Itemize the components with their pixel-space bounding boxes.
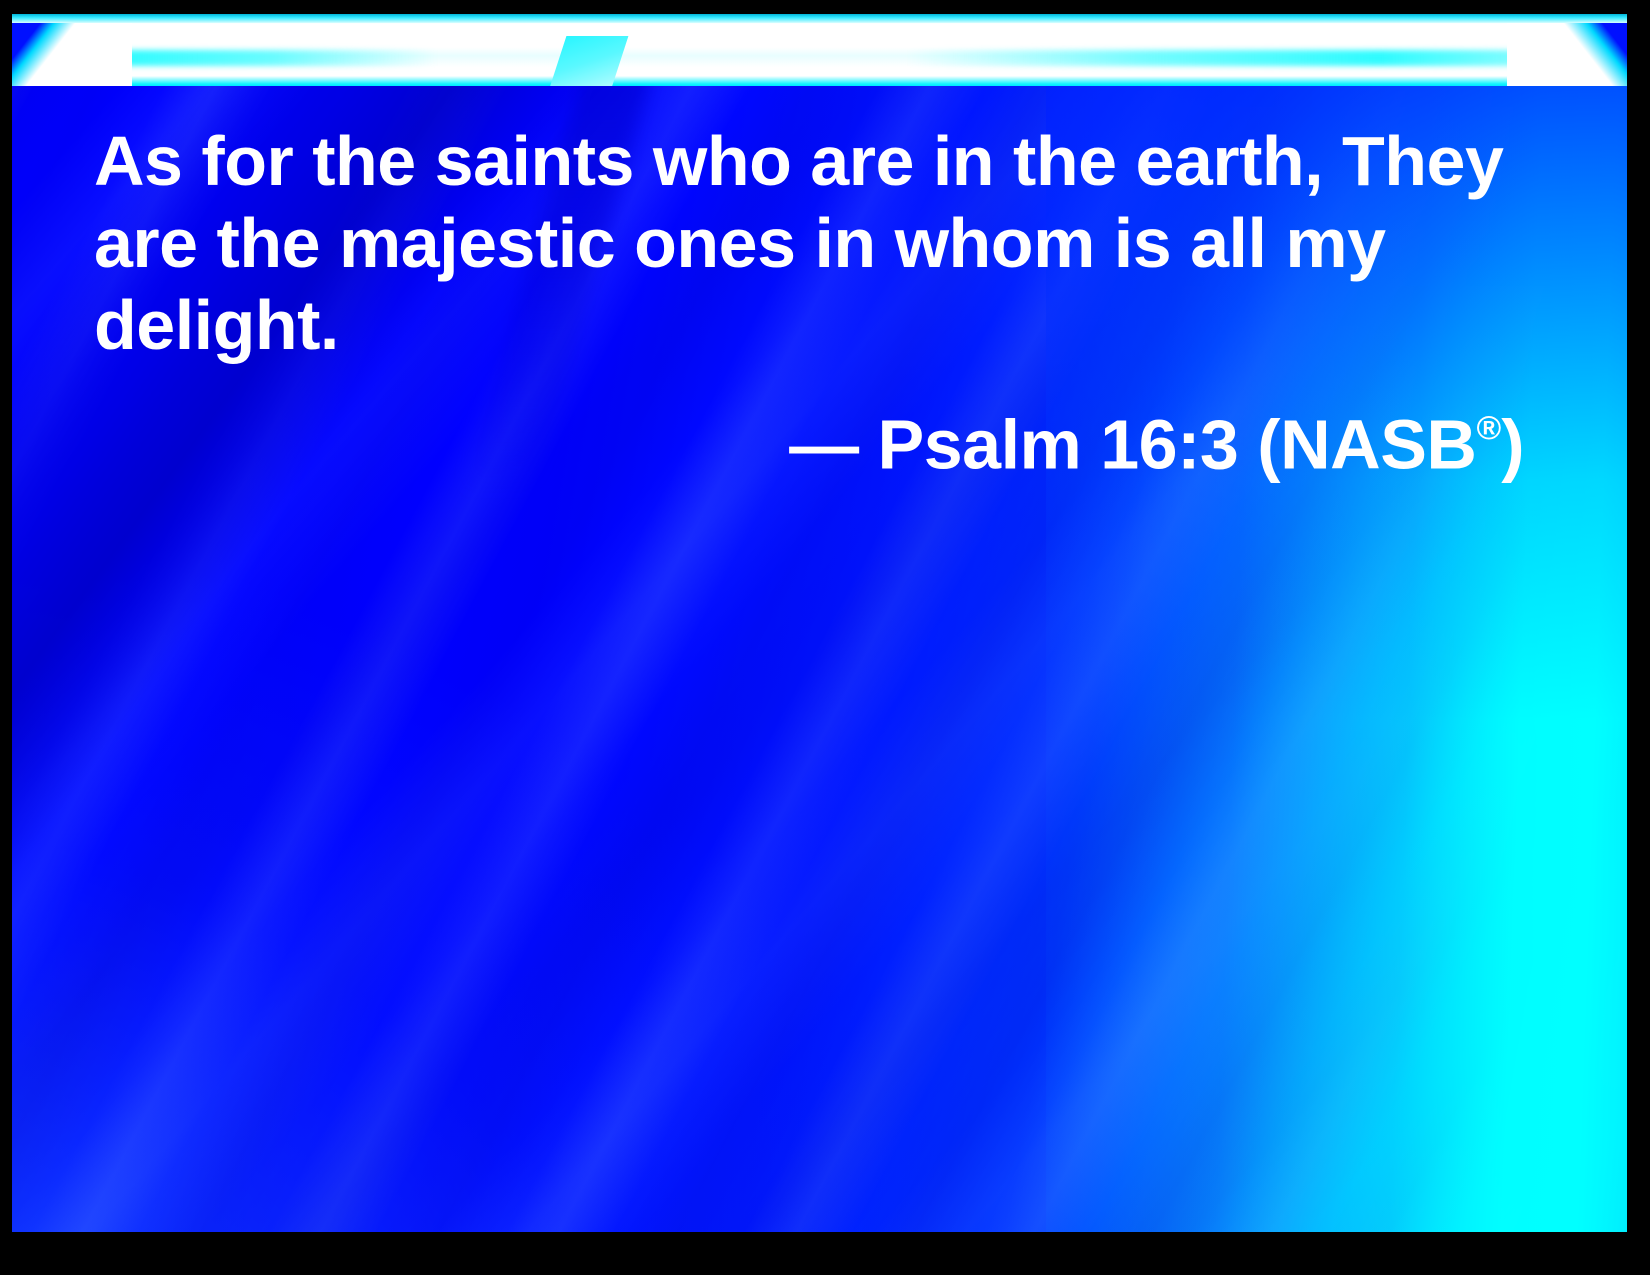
- attribution-book: Psalm: [878, 406, 1082, 484]
- banner-cyan-streak: [82, 50, 1557, 66]
- verse-text: As for the saints who are in the earth, …: [94, 120, 1524, 366]
- verse-slide: As for the saints who are in the earth, …: [0, 0, 1650, 1275]
- banner-right-taper: [1507, 14, 1627, 86]
- verse-attribution: — Psalm 16:3 (NASB®): [94, 388, 1524, 486]
- attribution-dash: —: [789, 406, 859, 484]
- top-banner-band: [12, 14, 1627, 86]
- slide-canvas: As for the saints who are in the earth, …: [12, 14, 1627, 1232]
- banner-left-taper: [12, 14, 132, 86]
- banner-top-edge: [12, 14, 1627, 23]
- attribution-translation-open: (NASB: [1257, 406, 1476, 484]
- attribution-reference: 16:3: [1100, 406, 1238, 484]
- registered-trademark-icon: ®: [1476, 410, 1501, 447]
- attribution-translation-close: ): [1501, 406, 1524, 484]
